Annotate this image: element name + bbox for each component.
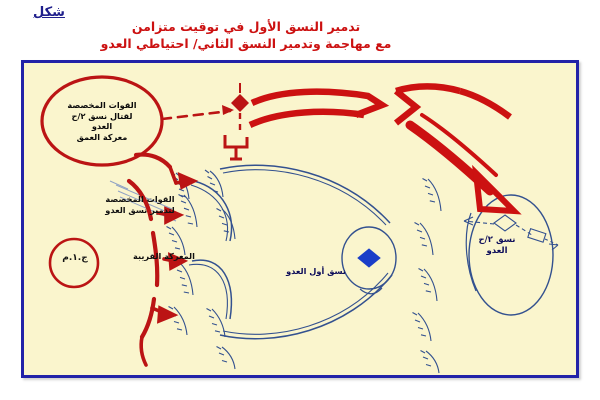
- dashed-axis-arrow: [162, 105, 234, 119]
- diagram-title: تدمير النسق الأول في توقيت متزامن مع مها…: [0, 18, 492, 52]
- diagram-page: شكل تدمير النسق الأول في توقيت متزامن مع…: [0, 0, 600, 400]
- diagram-canvas: القوات المخصصة لقتال نسق ٢/ح العدو معركة…: [24, 63, 576, 375]
- objective-bracket: [225, 135, 247, 159]
- flank-marker: [141, 337, 146, 365]
- boundary-marker: [231, 83, 249, 133]
- friendly-forces-layer: [24, 63, 576, 375]
- deep-forces-ellipse: [42, 77, 162, 165]
- command-post-circle: [50, 239, 98, 287]
- deep-strike-arrow: [410, 115, 514, 211]
- assault-arrows: [152, 167, 194, 321]
- diagram-frame: القوات المخصصة لقتال نسق ٢/ح العدو معركة…: [21, 60, 579, 378]
- main-thrust-arrow: [250, 87, 510, 126]
- title-line-1: تدمير النسق الأول في توقيت متزامن: [0, 18, 492, 35]
- title-line-2: مع مهاجمة وتدمير النسق الثاني/ احتياطي ا…: [0, 35, 492, 52]
